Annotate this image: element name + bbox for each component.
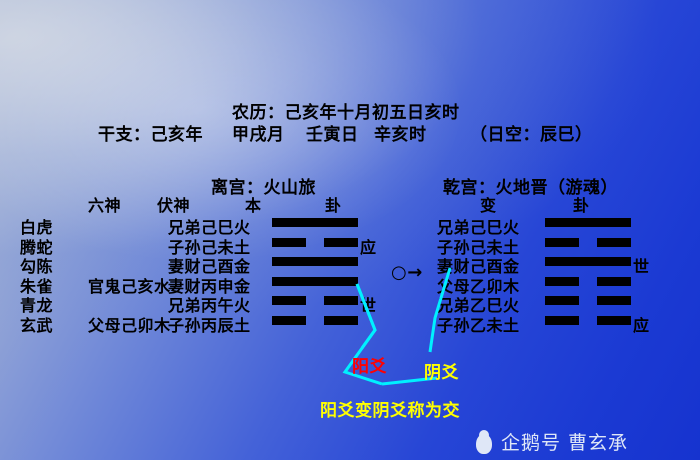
ben-gua-yao-line bbox=[272, 257, 358, 266]
ben-gua-name-cell: 子孙丙辰土 bbox=[168, 312, 251, 336]
ganzhi-day: 壬寅日 bbox=[306, 120, 359, 145]
change-arrow-symbol: ○→ bbox=[391, 262, 423, 283]
bian-gua-name-cell: 子孙乙未土 bbox=[437, 312, 520, 336]
ganzhi-year-label: 干支：己亥年 bbox=[98, 120, 203, 145]
ben-gua-mark-cell: 应 bbox=[360, 234, 377, 258]
connector-lines bbox=[0, 0, 700, 460]
bian-gua-yao-line bbox=[545, 257, 631, 266]
ben-gua-yao-line bbox=[272, 218, 358, 227]
watermark-text: 企鹅号 曹玄承 bbox=[501, 428, 628, 455]
decorative-arc-2 bbox=[0, 0, 700, 56]
fushen-cell: 官鬼己亥水 bbox=[88, 273, 171, 297]
yin-yao-label: 阴爻 bbox=[424, 358, 459, 383]
bottom-note: 阳爻变阴爻称为交 bbox=[320, 396, 460, 421]
ben-gua-yao-line bbox=[272, 296, 358, 305]
column-header-gua-right: 卦 bbox=[573, 192, 590, 216]
ben-gua-yao-line bbox=[272, 238, 358, 247]
bian-gua-yao-line bbox=[545, 296, 631, 305]
ganzhi-month: 甲戌月 bbox=[232, 120, 285, 145]
ben-gua-yao-line bbox=[272, 277, 358, 286]
column-header-bian: 变 bbox=[480, 192, 497, 216]
bian-gua-yao-line bbox=[545, 277, 631, 286]
decorative-arc-1 bbox=[0, 0, 700, 71]
ben-gua-yao-line bbox=[272, 316, 358, 325]
yang-yao-label: 阳爻 bbox=[352, 352, 387, 377]
right-palace-title: 乾宫：火地晋（游魂） bbox=[443, 173, 618, 198]
watermark: 企鹅号 曹玄承 bbox=[474, 428, 628, 455]
bian-gua-mark-cell: 应 bbox=[633, 312, 650, 336]
fushen-cell: 父母己卯木 bbox=[88, 312, 171, 336]
bian-gua-mark-cell: 世 bbox=[633, 253, 650, 277]
left-palace-title: 离宫：火山旅 bbox=[211, 173, 316, 198]
rikong-note: （日空：辰巳） bbox=[470, 120, 593, 145]
ganzhi-hour: 辛亥时 bbox=[374, 120, 427, 145]
bian-gua-yao-line bbox=[545, 238, 631, 247]
bian-gua-yao-line bbox=[545, 218, 631, 227]
liushen-cell: 玄武 bbox=[20, 312, 53, 336]
column-header-fushen: 伏神 bbox=[157, 192, 190, 216]
penguin-icon bbox=[474, 430, 494, 454]
ben-gua-mark-cell: 世 bbox=[360, 292, 377, 316]
column-header-ben: 本 bbox=[245, 192, 262, 216]
column-header-liushen: 六神 bbox=[88, 192, 121, 216]
column-header-gua-left: 卦 bbox=[325, 192, 342, 216]
bian-gua-yao-line bbox=[545, 316, 631, 325]
slide-canvas: 农历：己亥年十月初五日亥时 干支：己亥年 甲戌月 壬寅日 辛亥时 （日空：辰巳）… bbox=[0, 0, 700, 460]
